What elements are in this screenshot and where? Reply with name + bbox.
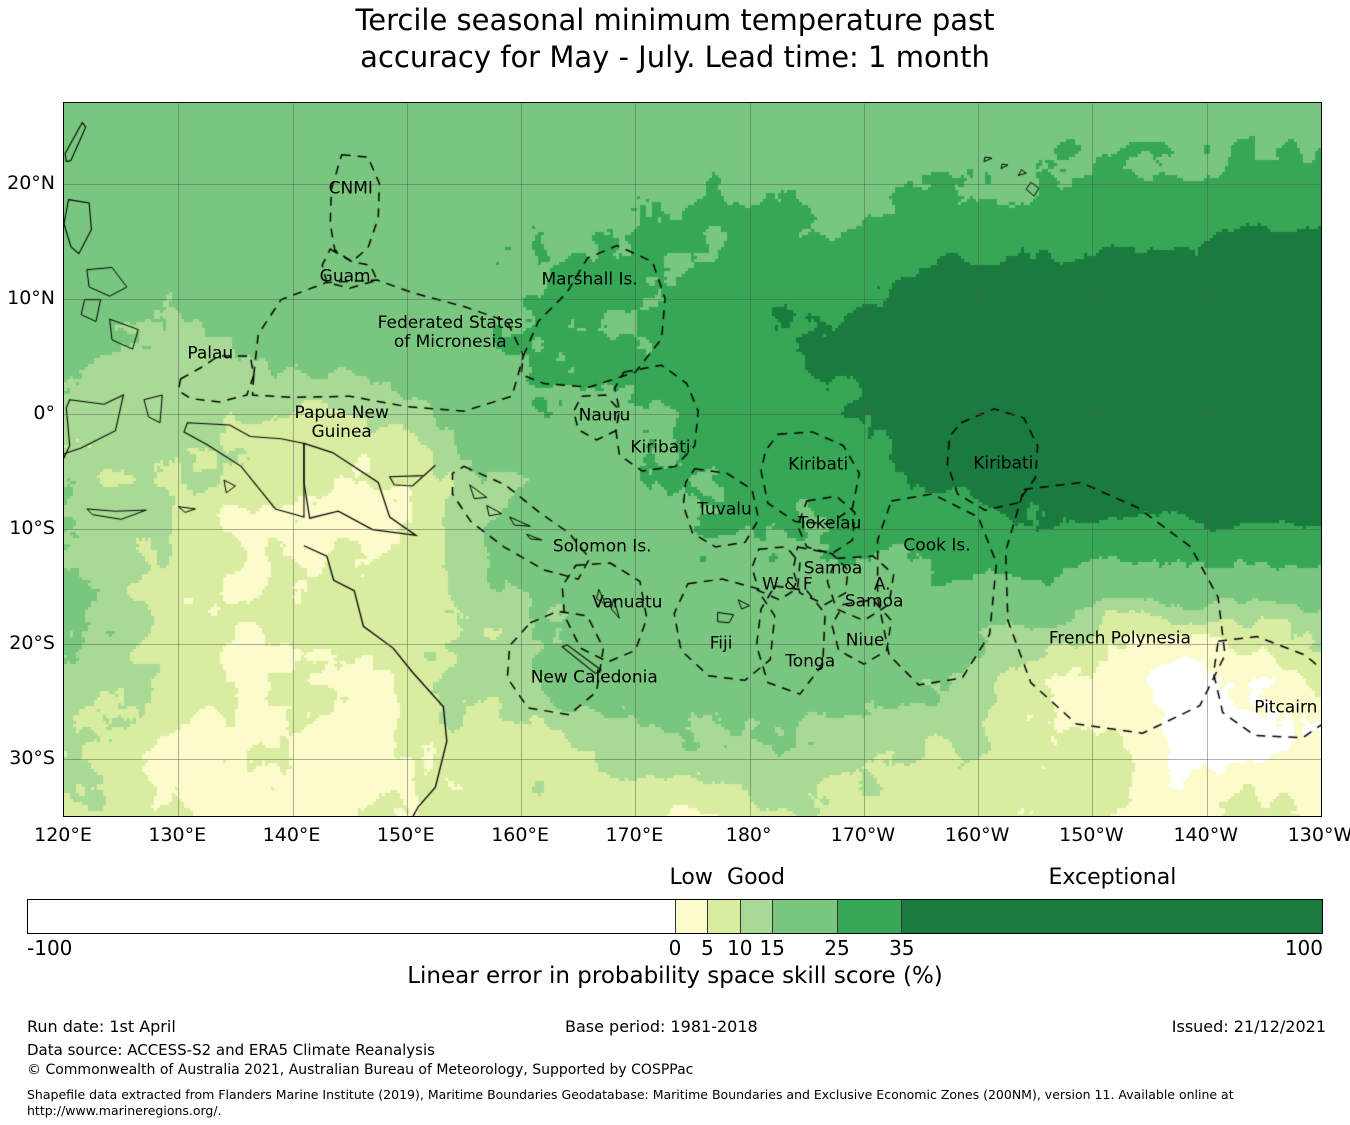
x-tick-label: 140°W xyxy=(1146,824,1266,846)
x-tick-label: 160°E xyxy=(460,824,580,846)
issued-date-text: Issued: 21/12/2021 xyxy=(1172,1017,1326,1036)
gridline-horizontal xyxy=(64,759,1321,760)
x-tick-label: 140°E xyxy=(232,824,352,846)
x-tick-label: 180° xyxy=(689,824,809,846)
colorbar[interactable] xyxy=(27,899,1323,934)
gridline-horizontal xyxy=(64,184,1321,185)
x-tick-label: 170°E xyxy=(574,824,694,846)
colorbar-tick-label: 15 xyxy=(759,936,784,960)
gridline-vertical xyxy=(635,103,636,816)
y-tick-label: 10°S xyxy=(0,517,55,539)
x-tick-label: 130°E xyxy=(117,824,237,846)
colorbar-quality-label: Good xyxy=(727,865,785,890)
title-line-2: accuracy for May - July. Lead time: 1 mo… xyxy=(0,39,1350,76)
run-date-text: Run date: 1st April xyxy=(27,1017,176,1036)
x-tick-label: 130°W xyxy=(1260,824,1350,846)
x-tick-label: 120°E xyxy=(3,824,123,846)
colorbar-axis-label: Linear error in probability space skill … xyxy=(0,963,1350,989)
shapefile-attribution: Shapefile data extracted from Flanders M… xyxy=(27,1087,1327,1119)
colorbar-segment xyxy=(707,900,739,933)
colorbar-segment xyxy=(772,900,837,933)
gridline-horizontal xyxy=(64,644,1321,645)
gridline-horizontal xyxy=(64,529,1321,530)
copyright-text: © Commonwealth of Australia 2021, Austra… xyxy=(27,1062,693,1078)
colorbar-quality-label: Exceptional xyxy=(1048,865,1176,890)
colorbar-tick-label: 25 xyxy=(824,936,849,960)
y-tick-label: 30°S xyxy=(0,747,55,769)
x-tick-label: 150°E xyxy=(346,824,466,846)
gridline-vertical xyxy=(293,103,294,816)
gridline-vertical xyxy=(864,103,865,816)
shapefile-line-2: http://www.marineregions.org/. xyxy=(27,1103,1327,1119)
colorbar-tick-label: 0 xyxy=(669,936,682,960)
colorbar-segment xyxy=(28,900,675,933)
gridline-vertical xyxy=(521,103,522,816)
colorbar-tick-label: -100 xyxy=(27,936,72,960)
colorbar-segment xyxy=(740,900,772,933)
colorbar-tick-label: 100 xyxy=(1285,936,1323,960)
figure-root: Tercile seasonal minimum temperature pas… xyxy=(0,0,1350,1125)
gridline-vertical xyxy=(178,103,179,816)
skill-score-heatmap xyxy=(64,103,1321,816)
colorbar-segment xyxy=(837,900,902,933)
colorbar-gradient xyxy=(27,899,1323,934)
y-tick-label: 20°S xyxy=(0,632,55,654)
gridline-vertical xyxy=(1207,103,1208,816)
colorbar-segment xyxy=(675,900,707,933)
data-source-text: Data source: ACCESS-S2 and ERA5 Climate … xyxy=(27,1041,435,1059)
gridline-horizontal xyxy=(64,414,1321,415)
colorbar-tick-label: 10 xyxy=(727,936,752,960)
base-period-text: Base period: 1981-2018 xyxy=(565,1017,758,1036)
gridline-vertical xyxy=(407,103,408,816)
gridline-vertical xyxy=(1092,103,1093,816)
colorbar-tick-label: 35 xyxy=(889,936,914,960)
x-tick-label: 170°W xyxy=(803,824,923,846)
gridline-horizontal xyxy=(64,299,1321,300)
gridline-vertical xyxy=(750,103,751,816)
title-line-1: Tercile seasonal minimum temperature pas… xyxy=(0,2,1350,39)
x-tick-label: 160°W xyxy=(917,824,1037,846)
y-tick-label: 10°N xyxy=(0,287,55,309)
colorbar-segment xyxy=(901,900,1322,933)
shapefile-line-1: Shapefile data extracted from Flanders M… xyxy=(27,1087,1327,1103)
y-tick-label: 0° xyxy=(0,402,55,424)
map-axes[interactable]: CNMIGuamPalauMarshall Is.Federated State… xyxy=(63,102,1322,817)
colorbar-quality-label: Low xyxy=(670,865,713,890)
y-tick-label: 20°N xyxy=(0,172,55,194)
gridline-vertical xyxy=(978,103,979,816)
colorbar-tick-label: 5 xyxy=(701,936,714,960)
x-tick-label: 150°W xyxy=(1031,824,1151,846)
page-title: Tercile seasonal minimum temperature pas… xyxy=(0,2,1350,76)
